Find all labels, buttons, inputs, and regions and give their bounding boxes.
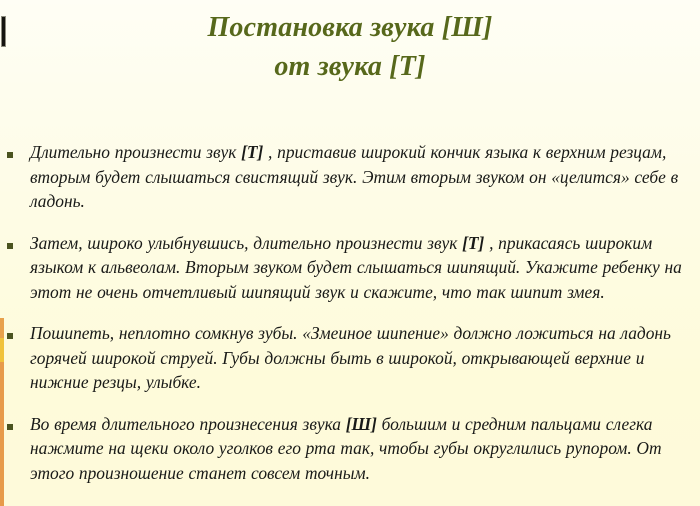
page-title-line-1: Постановка звука [Ш]: [0, 8, 700, 47]
left-edge-accent-orange-bottom: [0, 362, 4, 506]
square-bullet-icon: [7, 152, 13, 158]
left-edge-accent-orange-top: [0, 318, 4, 338]
square-bullet-icon: [7, 424, 13, 430]
bullet-list: Длительно произнести звук [Т] , пристави…: [0, 140, 700, 502]
square-bullet-icon: [7, 333, 13, 339]
title-cursor-marker: [1, 16, 6, 47]
list-item: Пошипеть, неплотно сомкнув зубы. «Змеино…: [0, 321, 700, 395]
page-title-line-2: от звука [Т]: [0, 47, 700, 86]
list-item-text: Во время длительного произнесения звука …: [30, 412, 692, 486]
square-bullet-icon: [7, 243, 13, 249]
list-item-text: Затем, широко улыбнувшись, длительно про…: [30, 231, 692, 305]
list-item-text: Длительно произнести звук [Т] , пристави…: [30, 140, 692, 214]
list-item: Во время длительного произнесения звука …: [0, 412, 700, 486]
slide-canvas: Постановка звука [Ш] от звука [Т] Длител…: [0, 0, 700, 506]
left-edge-accent-yellow: [0, 338, 4, 362]
list-item: Длительно произнести звук [Т] , пристави…: [0, 140, 700, 214]
page-title: Постановка звука [Ш] от звука [Т]: [0, 8, 700, 86]
list-item: Затем, широко улыбнувшись, длительно про…: [0, 231, 700, 305]
list-item-text: Пошипеть, неплотно сомкнув зубы. «Змеино…: [30, 321, 692, 395]
